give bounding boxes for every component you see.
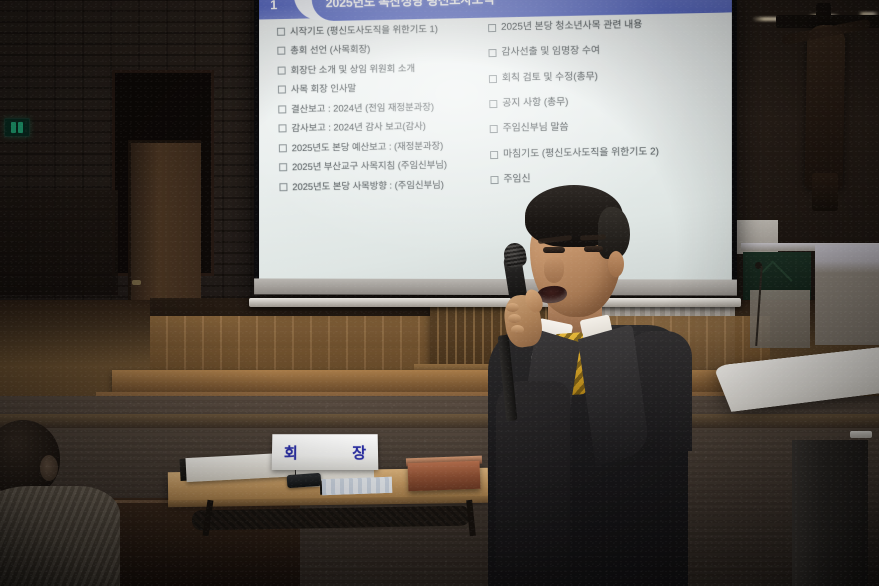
printed-papers (322, 477, 393, 495)
checkbox-icon (277, 28, 285, 36)
checkbox-icon (278, 67, 286, 75)
slide-bullet: 주임신 (490, 171, 726, 186)
bullet-text: 감사보고 : 2024년 감사 보고(감사) (291, 120, 425, 133)
bullet-text: 시작기도 (평신도사도직을 위한기도 1) (290, 23, 438, 37)
bullet-text: 2025년도 본당 사목방향 : (주임신부님) (292, 179, 444, 193)
bullet-text: 회장단 소개 및 상임 위원회 소개 (290, 62, 415, 75)
checkbox-icon (279, 144, 287, 152)
checkbox-icon (279, 125, 287, 133)
chairman-nameplate: 회 장 (272, 434, 379, 470)
audience-body (0, 486, 120, 586)
slide-bullet: 2025년 본당 청소년사목 관련 내용 (488, 18, 724, 34)
slide-bullet: 시작기도 (평신도사도직을 위한기도 1) (277, 22, 506, 37)
slide-bullet: 총회 선언 (사목회장) (277, 41, 506, 56)
presenter-finger (506, 303, 519, 312)
checkbox-icon (488, 49, 496, 57)
presenter-eye-right (584, 246, 603, 252)
smartphone (287, 473, 322, 488)
slide-bullet: 사목 회장 인사말 (278, 80, 507, 95)
emergency-exit-icon (4, 118, 30, 137)
bullet-text: 공지 사항 (총무) (502, 97, 568, 110)
photo-scene: 1 2025년도 복산성당 평신도사도직 시작기도 (평신도사도직을 위한기도 … (0, 0, 879, 586)
bullet-text: 감사선출 및 임명장 수여 (501, 45, 600, 58)
slide-number: 1 (270, 0, 278, 12)
slide-bullet: 2025년 부산교구 사목지침 (주임신부님) (279, 158, 508, 173)
audience-ear (40, 455, 58, 481)
presenter-eye-left (543, 247, 565, 253)
microphone-icon (502, 241, 527, 268)
crucifix-icon (776, 3, 872, 235)
slide-right-column: 2025년 본당 청소년사목 관련 내용 감사선출 및 임명장 수여 회칙 검토… (488, 18, 727, 200)
stage-floor-edge (0, 414, 879, 428)
bullet-text: 마침기도 (평신도사도직을 위한기도 2) (503, 146, 659, 160)
presenter-nose (544, 257, 564, 283)
slide-bullet: 결산보고 : 2024년 (전임 재정분과장) (278, 100, 507, 115)
presenter (480, 185, 690, 586)
checkbox-icon (279, 183, 287, 191)
slide-bullet: 회칙 검토 및 수정(총무) (489, 69, 725, 85)
bullet-text: 2025년도 본당 예산보고 : (재정분과장) (292, 140, 444, 154)
bullet-text: 2025년 부산교구 사목지침 (주임신부님) (292, 159, 447, 173)
slide-bullet: 감사보고 : 2024년 감사 보고(감사) (278, 119, 507, 134)
nameplate-char-right: 장 (352, 442, 366, 463)
wall-panel (0, 190, 118, 295)
altar-cloth (815, 245, 879, 345)
slide-bullet: 2025년도 본당 예산보고 : (재정분과장) (279, 139, 508, 154)
bullet-text: 결산보고 : 2024년 (전임 재정분과장) (291, 101, 434, 115)
checkbox-icon (277, 47, 285, 55)
presenter-ear (608, 251, 624, 277)
slide-bullet: 마침기도 (평신도사도직을 위한기도 2) (490, 145, 726, 160)
crucifix-base (812, 173, 838, 211)
checkbox-icon (278, 105, 286, 113)
slide-bullet: 공지 사항 (총무) (489, 94, 725, 110)
lectern-column (792, 440, 868, 586)
bullet-text: 총회 선언 (사목회장) (290, 44, 370, 57)
checkbox-icon (279, 163, 287, 171)
presenter-finger (508, 314, 521, 323)
slide-header-banner: 1 2025년도 복산성당 평신도사도직 (259, 0, 729, 20)
checkbox-icon (489, 100, 497, 108)
slide-bullet: 회장단 소개 및 상임 위원회 소개 (278, 61, 507, 76)
wooden-box (408, 461, 481, 491)
checkbox-icon (488, 24, 496, 32)
slide-bullet: 2025년도 본당 사목방향 : (주임신부님) (279, 178, 508, 193)
slide-bullet: 주임신부님 말씀 (490, 120, 726, 136)
checkbox-icon (278, 86, 286, 94)
checkbox-icon (490, 176, 498, 184)
bullet-text: 회칙 검토 및 수정(총무) (502, 71, 598, 84)
checkbox-icon (490, 151, 498, 159)
bullet-text: 주임신부님 말씀 (503, 122, 569, 135)
bullet-text: 사목 회장 인사말 (291, 83, 356, 95)
checkbox-icon (489, 75, 497, 83)
crucifix-corpus (805, 25, 846, 191)
slide-bullet: 감사선출 및 임명장 수여 (488, 43, 724, 59)
bullet-text: 주임신 (503, 174, 530, 186)
presenter-finger (511, 325, 524, 334)
lectern-clip (850, 431, 872, 438)
slide-left-column: 시작기도 (평신도사도직을 위한기도 1) 총회 선언 (사목회장) 회장단 소… (277, 22, 509, 201)
door-knob-icon[interactable] (132, 280, 141, 285)
checkbox-icon (490, 125, 498, 133)
altar-chevron-icon (761, 260, 792, 291)
bullet-text: 2025년 본당 청소년사목 관련 내용 (501, 19, 642, 33)
nameplate-char-left: 회 (284, 442, 298, 463)
